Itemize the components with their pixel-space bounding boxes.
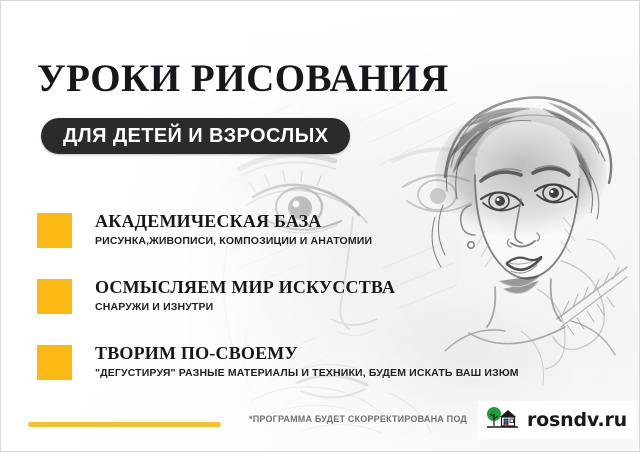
- advertisement-poster: УРОКИ РИСОВАНИЯ ДЛЯ ДЕТЕЙ И ВЗРОСЛЫХ АКА…: [0, 0, 640, 452]
- footer-divider: [28, 422, 221, 427]
- feature-subtitle: РИСУНКА,ЖИВОПИСИ, КОМПОЗИЦИИ И АНАТОМИИ: [95, 234, 617, 248]
- poster-content: УРОКИ РИСОВАНИЯ ДЛЯ ДЕТЕЙ И ВЗРОСЛЫХ АКА…: [1, 1, 640, 452]
- bullet-square-icon: [37, 345, 72, 380]
- bullet-square-icon: [37, 279, 72, 314]
- watermark-text: rosndv.ru: [527, 409, 627, 431]
- audience-badge: ДЛЯ ДЕТЕЙ И ВЗРОСЛЫХ: [41, 118, 350, 154]
- feature-list: АКАДЕМИЧЕСКАЯ БАЗА РИСУНКА,ЖИВОПИСИ, КОМ…: [37, 211, 617, 380]
- feature-subtitle: СНАРУЖИ И ИЗНУТРИ: [95, 300, 617, 314]
- feature-title: АКАДЕМИЧЕСКАЯ БАЗА: [95, 211, 617, 232]
- watermark: rosndv.ru: [478, 401, 637, 439]
- page-title: УРОКИ РИСОВАНИЯ: [37, 57, 449, 101]
- list-item: ТВОРИМ ПО-СВОЕМУ "ДЕГУСТИРУЯ" РАЗНЫЕ МАТ…: [37, 343, 617, 380]
- feature-subtitle: "ДЕГУСТИРУЯ" РАЗНЫЕ МАТЕРИАЛЫ И ТЕХНИКИ,…: [95, 366, 617, 380]
- feature-title: ОСМЫСЛЯЕМ МИР ИСКУССТВА: [95, 277, 617, 298]
- disclaimer-text: *ПРОГРАММА БУДЕТ СКОРРЕКТИРОВАНА ПОД: [249, 414, 467, 424]
- tree-house-icon: [486, 405, 520, 436]
- list-item: АКАДЕМИЧЕСКАЯ БАЗА РИСУНКА,ЖИВОПИСИ, КОМ…: [37, 211, 617, 248]
- audience-badge-label: ДЛЯ ДЕТЕЙ И ВЗРОСЛЫХ: [63, 125, 328, 148]
- bullet-square-icon: [37, 213, 72, 248]
- list-item: ОСМЫСЛЯЕМ МИР ИСКУССТВА СНАРУЖИ И ИЗНУТР…: [37, 277, 617, 314]
- feature-title: ТВОРИМ ПО-СВОЕМУ: [95, 343, 617, 364]
